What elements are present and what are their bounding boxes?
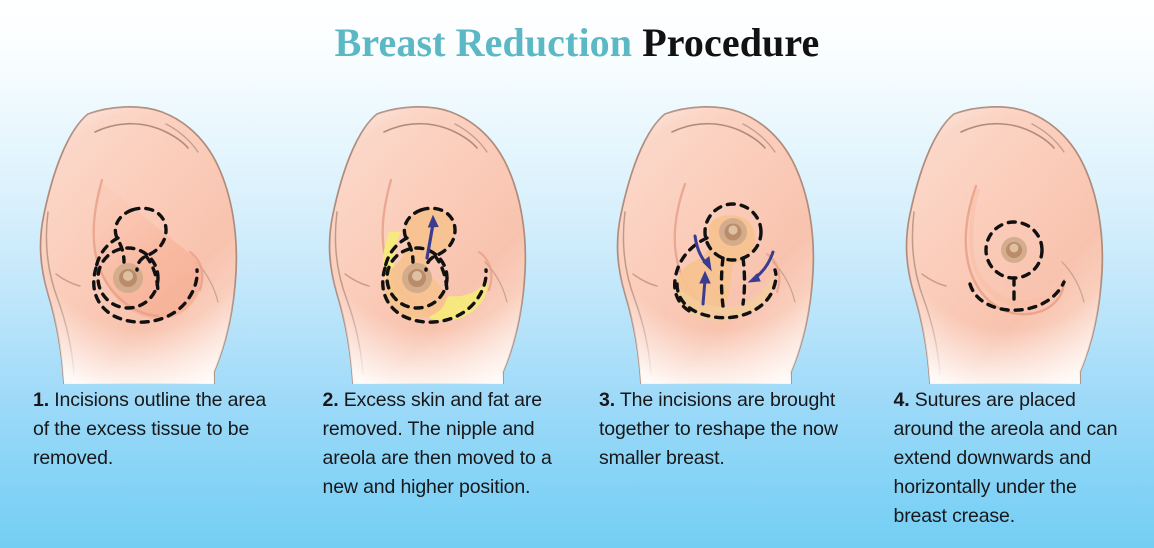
page-title: Breast Reduction Procedure bbox=[0, 19, 1154, 67]
breast-step-2-tissue-removal bbox=[289, 104, 578, 384]
areola bbox=[113, 263, 143, 293]
caption-step-1: 1. Incisions outline the area of the exc… bbox=[0, 386, 289, 531]
infographic-root: Breast Reduction Procedure bbox=[0, 0, 1154, 548]
caption-text-3: The incisions are brought together to re… bbox=[599, 389, 838, 469]
title-dark-text: Procedure bbox=[642, 20, 819, 65]
title-accent-text: Breast Reduction bbox=[335, 20, 633, 65]
illustration-panels bbox=[0, 104, 1154, 384]
title-space bbox=[632, 20, 642, 65]
caption-step-3: 3. The incisions are brought together to… bbox=[577, 386, 866, 531]
caption-text-4: Sutures are placed around the areola and… bbox=[894, 389, 1118, 527]
caption-number-4: 4. bbox=[894, 389, 910, 411]
caption-number-2: 2. bbox=[323, 389, 339, 411]
breast-step-3-incisions-closed bbox=[577, 104, 866, 384]
caption-number-3: 3. bbox=[599, 389, 615, 411]
caption-text-1: Incisions outline the area of the excess… bbox=[33, 389, 266, 469]
breast-step-1-incision-outline bbox=[0, 104, 289, 384]
torso-silhouette bbox=[0, 104, 288, 384]
caption-step-4: 4. Sutures are placed around the areola … bbox=[866, 386, 1154, 531]
step-captions: 1. Incisions outline the area of the exc… bbox=[0, 386, 1154, 531]
caption-text-2: Excess skin and fat are removed. The nip… bbox=[323, 389, 552, 498]
breast-step-4-sutures-placed bbox=[866, 104, 1154, 384]
caption-number-1: 1. bbox=[33, 389, 49, 411]
caption-step-2: 2. Excess skin and fat are removed. The … bbox=[289, 386, 578, 531]
